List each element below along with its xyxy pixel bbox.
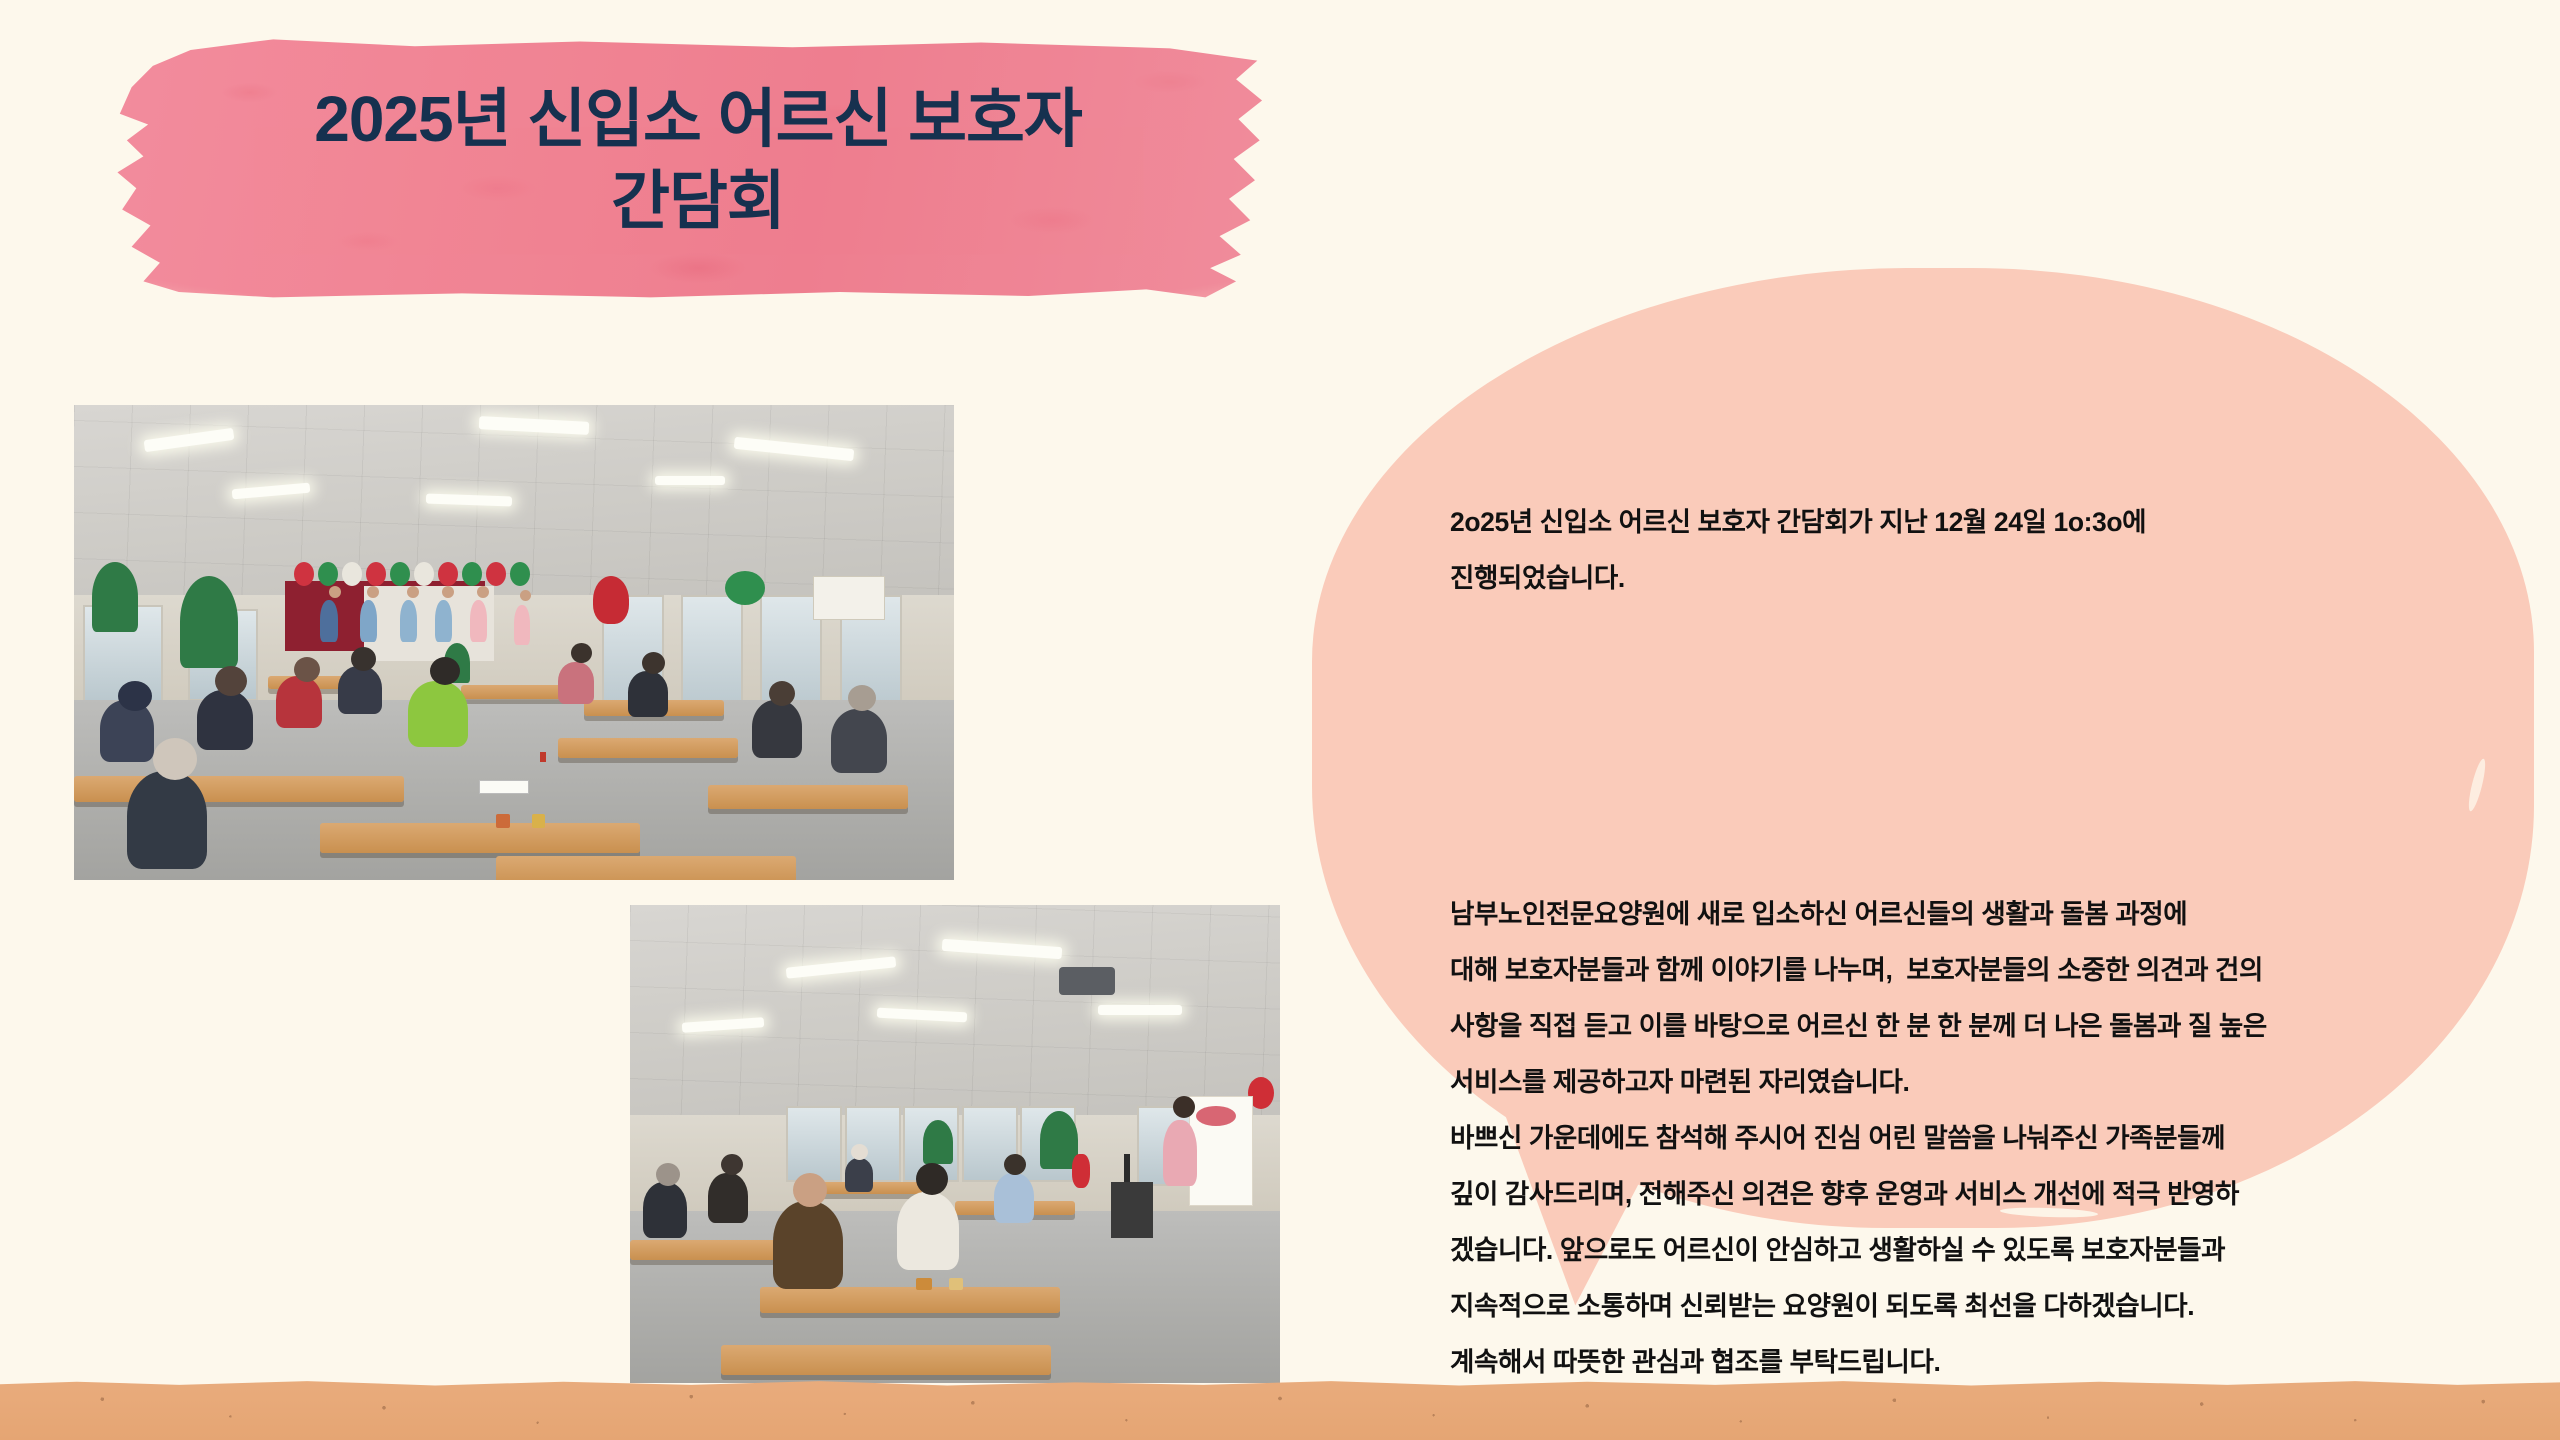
- gift-box: [532, 814, 545, 828]
- speech-bubble: 2o25년 신입소 어르신 보호자 간담회가 지난 12월 24일 1o:3o에…: [1312, 268, 2534, 1323]
- event-photo-1: [74, 405, 954, 880]
- presenter-head: [367, 586, 379, 598]
- audience-head: [769, 681, 795, 706]
- presenter-head: [407, 586, 419, 598]
- audience-member: [773, 1201, 843, 1289]
- audience-member: [643, 1182, 687, 1238]
- audience-member: [558, 662, 594, 704]
- desk: [708, 785, 908, 809]
- audience-member: [408, 681, 468, 747]
- drink-carton: [540, 752, 546, 762]
- speaker-presenter: [1163, 1120, 1197, 1186]
- presenter: [435, 600, 452, 642]
- banner-flower-graphic: [1196, 1106, 1236, 1126]
- title-banner: 2025년 신입소 어르신 보호자 간담회: [108, 34, 1288, 300]
- desk: [74, 776, 404, 802]
- audience-member: [708, 1173, 748, 1223]
- audience-head: [916, 1163, 948, 1195]
- footer-decorative-band: [0, 1378, 2560, 1440]
- event-photo-2: [630, 905, 1280, 1383]
- santa-decoration: [1072, 1154, 1090, 1188]
- ceiling-light: [655, 476, 725, 485]
- desk: [558, 738, 738, 758]
- speaker-head: [1173, 1096, 1195, 1118]
- music-stand: [1111, 1182, 1153, 1238]
- presenter-head: [477, 586, 489, 598]
- presenter: [320, 600, 338, 642]
- audience-head: [430, 657, 460, 685]
- christmas-tree-decoration: [1040, 1111, 1078, 1169]
- audience-head: [294, 657, 320, 682]
- gift-box: [496, 814, 510, 828]
- photo-2-scene: [630, 905, 1280, 1383]
- page-title-line-1: 2025년 신입소 어르신 보호자: [314, 79, 1082, 161]
- audience-member: [752, 700, 802, 758]
- audience-member: [338, 666, 382, 714]
- presenter-head: [329, 586, 341, 598]
- audience-head: [656, 1163, 680, 1186]
- bubble-highlight: [2272, 293, 2402, 318]
- audience-member: [845, 1158, 873, 1192]
- window: [681, 595, 743, 715]
- audience-member: [994, 1173, 1034, 1223]
- audience-member: [628, 671, 668, 717]
- presenter: [360, 600, 377, 642]
- gift-box: [949, 1278, 963, 1290]
- presenter: [514, 605, 530, 645]
- desk: [760, 1287, 1060, 1313]
- audience-member: [897, 1192, 959, 1270]
- audience-member: [276, 676, 322, 728]
- audience-head: [793, 1173, 827, 1207]
- window: [786, 1106, 842, 1182]
- desk: [320, 823, 640, 853]
- announcement-intro: 2o25년 신입소 어르신 보호자 간담회가 지난 12월 24일 1o:3o에…: [1450, 494, 2480, 606]
- presenter: [470, 600, 487, 642]
- desk: [496, 856, 796, 880]
- christmas-tree-decoration: [923, 1120, 953, 1164]
- audience-head: [851, 1144, 868, 1160]
- santa-decoration: [593, 576, 629, 624]
- paragraph-spacer: [1450, 718, 2480, 774]
- christmas-tree-decoration: [92, 562, 138, 632]
- audience-head: [215, 666, 247, 696]
- christmas-tree-decoration: [180, 576, 238, 668]
- audience-head: [1004, 1154, 1026, 1175]
- audience-head: [118, 681, 152, 711]
- audience-member: [831, 709, 887, 773]
- presenter: [400, 600, 417, 642]
- ceiling-light: [1098, 1005, 1182, 1015]
- audience-member: [197, 690, 253, 750]
- announcement-paragraph: 남부노인전문요양원에 새로 입소하신 어르신들의 생활과 돌봄 과정에 대해 보…: [1450, 886, 2480, 1390]
- page-title-line-2: 간담회: [611, 161, 785, 243]
- signboard: [813, 576, 885, 620]
- page-title: 2025년 신입소 어르신 보호자 간담회: [108, 34, 1288, 300]
- audience-head: [721, 1154, 743, 1175]
- photo-1-scene: [74, 405, 954, 880]
- audience-head: [571, 643, 592, 663]
- gift-box: [916, 1278, 932, 1290]
- projector: [1059, 967, 1115, 995]
- balloon-decoration: [294, 562, 530, 586]
- audience-head: [642, 652, 665, 674]
- audience-member: [127, 771, 207, 869]
- announcement-text: 2o25년 신입소 어르신 보호자 간담회가 지난 12월 24일 1o:3o에…: [1450, 382, 2480, 1440]
- desk: [721, 1345, 1051, 1375]
- presenter-head: [442, 586, 454, 598]
- audience-head: [153, 738, 197, 780]
- name-card: [479, 780, 529, 794]
